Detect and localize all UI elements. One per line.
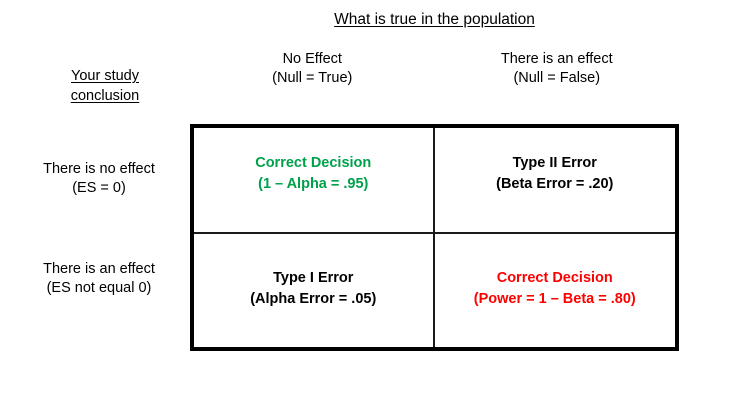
row-label-there-is-no-effect: There is no effect (ES = 0)	[8, 160, 190, 198]
decision-matrix: Correct Decision (1 – Alpha = .95) Type …	[190, 124, 679, 351]
cell-type-ii-error-line1: Type II Error	[513, 153, 597, 174]
table-row: Correct Decision (1 – Alpha = .95) Type …	[194, 128, 675, 234]
column-header-no-effect-line2: (Null = True)	[190, 69, 435, 88]
cell-correct-decision-power-line1: Correct Decision	[497, 268, 613, 289]
row-label-there-is-an-effect: There is an effect (ES not equal 0)	[8, 260, 190, 298]
column-header-there-is-an-effect-line1: There is an effect	[501, 51, 613, 67]
column-header-there-is-an-effect: There is an effect (Null = False)	[435, 50, 680, 88]
row-label-there-is-an-effect-line2: (ES not equal 0)	[8, 279, 190, 298]
table-row: Type I Error (Alpha Error = .05) Correct…	[194, 234, 675, 347]
row-label-there-is-no-effect-line2: (ES = 0)	[8, 179, 190, 198]
study-conclusion-caption: Your study conclusion	[20, 66, 190, 106]
cell-type-ii-error-line2: (Beta Error = .20)	[496, 174, 613, 195]
population-title: What is true in the population	[190, 10, 679, 30]
cell-correct-decision-power: Correct Decision (Power = 1 – Beta = .80…	[435, 234, 676, 347]
column-header-there-is-an-effect-line2: (Null = False)	[435, 69, 680, 88]
cell-type-ii-error: Type II Error (Beta Error = .20)	[435, 128, 676, 232]
column-header-no-effect-line1: No Effect	[283, 51, 342, 67]
study-conclusion-line2: conclusion	[20, 86, 190, 106]
cell-correct-decision-power-line2: (Power = 1 – Beta = .80)	[474, 289, 636, 310]
cell-correct-decision-true-negative-line2: (1 – Alpha = .95)	[258, 174, 368, 195]
column-header-no-effect: No Effect (Null = True)	[190, 50, 435, 88]
cell-correct-decision-true-negative: Correct Decision (1 – Alpha = .95)	[194, 128, 435, 232]
row-label-there-is-no-effect-line1: There is no effect	[43, 161, 155, 177]
study-conclusion-line1: Your study	[20, 66, 190, 86]
cell-type-i-error: Type I Error (Alpha Error = .05)	[194, 234, 435, 347]
cell-correct-decision-true-negative-line1: Correct Decision	[255, 153, 371, 174]
row-label-there-is-an-effect-line1: There is an effect	[43, 261, 155, 277]
cell-type-i-error-line1: Type I Error	[273, 268, 353, 289]
cell-type-i-error-line2: (Alpha Error = .05)	[250, 289, 376, 310]
column-header-row: No Effect (Null = True) There is an effe…	[190, 50, 679, 88]
